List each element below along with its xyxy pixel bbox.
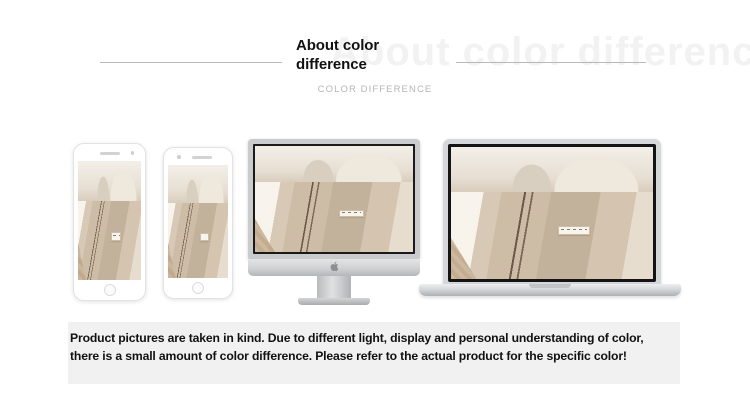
divider-line-right (456, 62, 646, 63)
product-tag (200, 233, 210, 241)
product-photo-rug (78, 161, 141, 280)
product-tag (111, 232, 121, 240)
phone-speaker-icon (192, 156, 212, 159)
phone-home-button (104, 284, 116, 296)
imac-screen (253, 144, 415, 254)
phone-speaker-icon (100, 152, 120, 155)
macbook-latch-notch (529, 284, 571, 288)
smartphone-left (73, 143, 146, 301)
macbook-bezel (448, 144, 656, 282)
phone-left-screen (78, 161, 141, 280)
macbook-screen-content (451, 147, 653, 279)
device-showcase (0, 126, 750, 316)
imac-body (248, 139, 420, 259)
divider-line-left (100, 62, 282, 63)
macbook-lid (443, 139, 661, 287)
product-tag (339, 210, 364, 217)
desktop-imac (248, 139, 420, 309)
imac-chin (248, 259, 420, 276)
smartphone-right (163, 147, 233, 299)
laptop-macbook (419, 139, 681, 309)
header-section: About color difference About color diffe… (0, 0, 750, 118)
apple-logo-icon (330, 261, 339, 275)
page-title-line-2: difference (296, 55, 456, 74)
color-difference-note: Product pictures are taken in kind. Due … (70, 330, 670, 365)
phone-camera-icon (177, 155, 181, 159)
page-title-line-1: About color (296, 36, 456, 55)
phone-home-button (192, 282, 204, 294)
product-photo-rug (168, 165, 228, 278)
product-photo-rug (451, 147, 653, 279)
product-photo-rug (255, 146, 413, 252)
page-subtitle: COLOR DIFFERENCE (0, 84, 750, 95)
product-tag (558, 226, 590, 235)
title-block: About color difference (296, 36, 456, 74)
imac-stand-foot (298, 298, 370, 305)
phone-right-screen (168, 165, 228, 278)
color-difference-banner: About color difference About color diffe… (0, 0, 750, 413)
imac-screen-content (255, 146, 413, 252)
phone-camera-icon (131, 151, 135, 155)
